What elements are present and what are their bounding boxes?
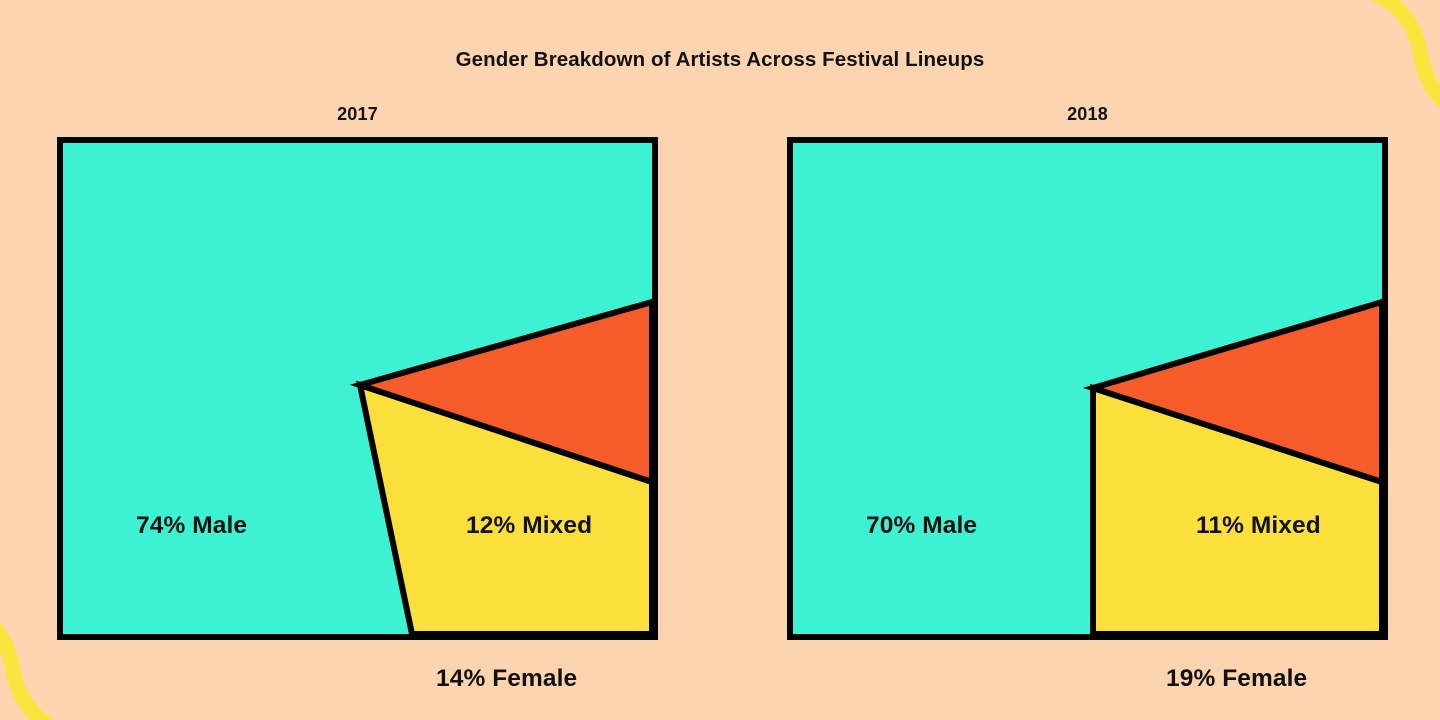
chart-title: Gender Breakdown of Artists Across Festi… — [0, 48, 1440, 72]
segment-label-female-2017: 14% Female — [436, 665, 577, 693]
panel-label-2018: 2018 — [787, 104, 1388, 125]
segment-label-female-2018: 19% Female — [1166, 665, 1307, 693]
panel-2017-diagram — [57, 137, 658, 640]
panel-2017: 2017 74% Male 12% Mixed 14% Female — [57, 137, 658, 640]
segment-label-mixed-2017: 12% Mixed — [466, 512, 592, 540]
panel-label-2017: 2017 — [57, 104, 658, 125]
panel-2018-diagram — [787, 137, 1388, 640]
chart-canvas: Gender Breakdown of Artists Across Festi… — [0, 0, 1440, 720]
segment-label-male-2017: 74% Male — [136, 512, 247, 540]
segment-label-mixed-2018: 11% Mixed — [1196, 512, 1321, 540]
panel-2018: 2018 70% Male 11% Mixed 19% Female — [787, 137, 1388, 640]
segment-label-male-2018: 70% Male — [866, 512, 977, 540]
